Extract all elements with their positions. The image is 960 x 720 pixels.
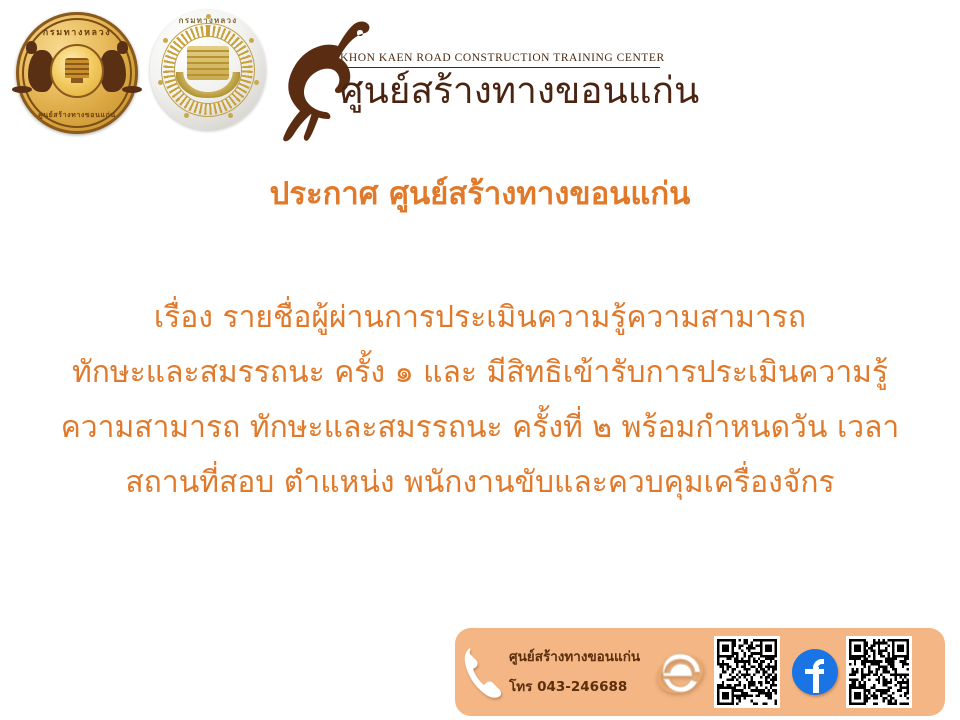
silver-seal-wings-icon (176, 72, 240, 98)
silver-seal-stud (254, 80, 259, 85)
subject-line: เรื่อง รายชื่อผู้ผ่านการประเมินความรู้คว… (0, 290, 960, 345)
subject-line: ทักษะและสมรรถนะ ครั้ง ๑ และ มีสิทธิเข้าร… (0, 345, 960, 400)
qr-code-website[interactable] (714, 636, 780, 708)
contact-text: ศูนย์สร้างทางขอนแก่น โทร 043-246688 (509, 642, 640, 702)
subject-line: ความสามารถ ทักษะและสมรรถนะ ครั้งที่ ๒ พร… (0, 400, 960, 455)
silver-seal-stud (184, 113, 189, 118)
wordmark-thai: ศูนย์สร้างทางขอนแก่น (340, 70, 680, 113)
subject-line: สถานที่สอบ ตำแหน่ง พนักงานขับและควบคุมเค… (0, 455, 960, 510)
silver-seal-stud (249, 38, 254, 43)
contact-telephone[interactable]: โทร 043-246688 (509, 672, 640, 702)
center-wordmark: KHON KAEN ROAD CONSTRUCTION TRAINING CEN… (340, 52, 680, 113)
department-silver-seal-icon: กรมทางหลวง (150, 10, 266, 130)
department-gold-seal-icon: กรมทางหลวง ศูนย์สร้างทางขอนแก่น (16, 12, 138, 134)
gold-seal-crest-icon (50, 44, 104, 98)
contact-bar: ศูนย์สร้างทางขอนแก่น โทร 043-246688 (455, 628, 945, 716)
silver-seal-stud (228, 113, 233, 118)
contact-organization: ศูนย์สร้างทางขอนแก่น (509, 642, 640, 672)
phone-icon (461, 644, 507, 700)
silver-seal-stud (158, 80, 163, 85)
announcement-subject: เรื่อง รายชื่อผู้ผ่านการประเมินความรู้คว… (0, 290, 960, 510)
poster-header: กรมทางหลวง ศูนย์สร้างทางขอนแก่น กรมทางหล… (0, 0, 960, 150)
gold-seal-bottom-text: ศูนย์สร้างทางขอนแก่น (16, 110, 138, 121)
qr-code-facebook[interactable] (846, 636, 912, 708)
facebook-icon[interactable] (792, 649, 838, 695)
internet-explorer-icon[interactable] (654, 646, 706, 698)
silver-seal-stud (163, 38, 168, 43)
facebook-f-glyph (813, 667, 819, 693)
silver-seal-stud (206, 14, 211, 19)
wordmark-english: KHON KAEN ROAD CONSTRUCTION TRAINING CEN… (340, 52, 660, 68)
page-title: ประกาศ ศูนย์สร้างทางขอนแก่น (0, 168, 960, 218)
gold-seal-top-text: กรมทางหลวง (16, 25, 138, 39)
announcement-poster: กรมทางหลวง ศูนย์สร้างทางขอนแก่น กรมทางหล… (0, 0, 960, 720)
